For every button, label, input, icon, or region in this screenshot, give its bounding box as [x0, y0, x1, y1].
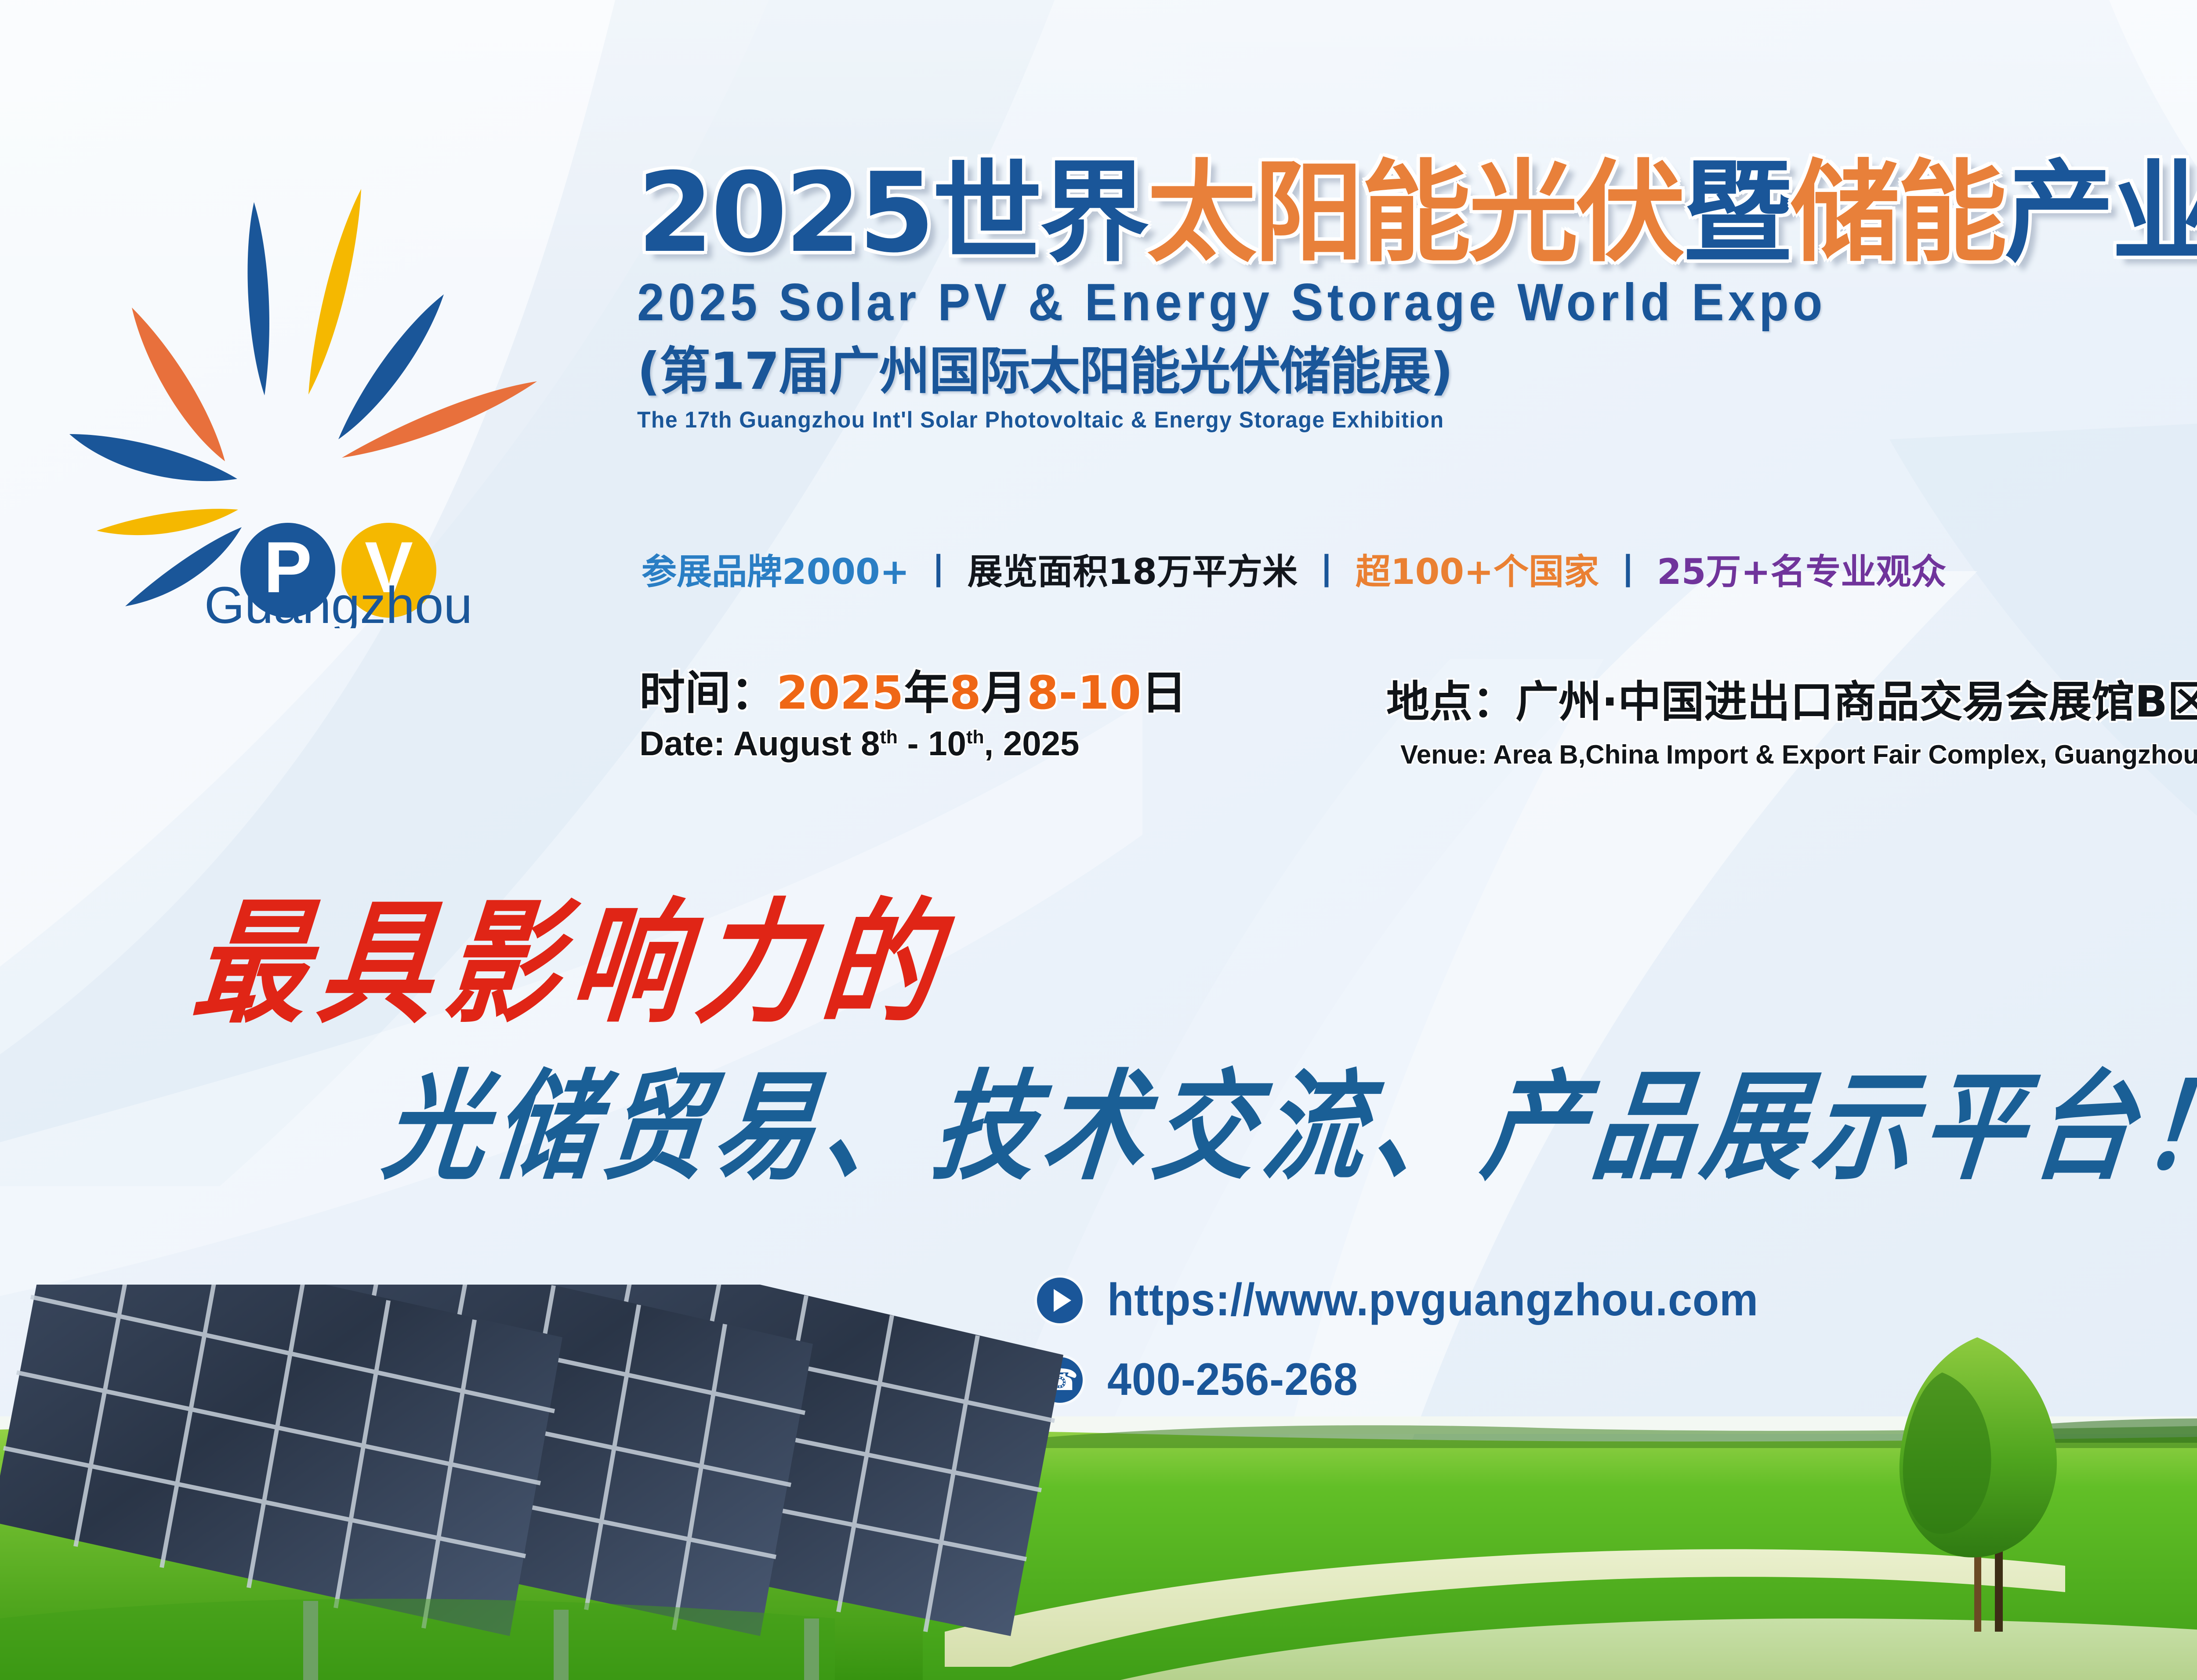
subtitle-cn: (第17届广州国际太阳能光伏储能展) — [637, 346, 2197, 397]
petal-yellow-lower-left — [97, 509, 238, 535]
date-block: 时间：2025年8月8-10日 Date: August 8th - 10th,… — [639, 668, 1187, 764]
subtitle-en: The 17th Guangzhou Int'l Solar Photovolt… — [637, 407, 2197, 433]
title-part-1: 太阳能光伏 — [1147, 149, 1683, 277]
title-part-0: 2025世界 — [637, 149, 1147, 277]
date-en-suffix: , 2025 — [984, 724, 1080, 763]
petal-orange-upper-left — [132, 308, 225, 461]
stat-separator-1: 丨 — [921, 554, 956, 590]
petal-blue-top — [247, 202, 269, 395]
slogan-line-2: 光储贸易、技术交流、产品展示平台！ — [379, 1068, 2197, 1186]
date-en-mid: - 10 — [898, 724, 966, 763]
date-cn: 时间：2025年8月8-10日 — [639, 668, 1187, 718]
date-en-sup1: th — [880, 727, 898, 748]
logo-svg: P V Guangzhou — [48, 163, 567, 628]
logo-wordmark: Guangzhou — [204, 576, 472, 628]
title-part-4: 产业博览会 — [2005, 149, 2197, 277]
date-en-prefix: Date: August 8 — [639, 724, 880, 763]
date-cn-label: 时间： — [639, 666, 776, 720]
main-title-en: 2025 Solar PV & Energy Storage World Exp… — [637, 276, 2197, 329]
headline-block: 2025世界太阳能光伏暨储能产业博览会 2025 Solar PV & Ener… — [637, 158, 2197, 433]
venue-en: Venue: Area B,China Import & Export Fair… — [1400, 739, 2197, 770]
stat-separator-3: 丨 — [1610, 554, 1646, 590]
landscape-illustration — [0, 1285, 2197, 1680]
stat-area: 展览面积18万平方米 — [968, 554, 1298, 590]
pv-guangzhou-logo: P V Guangzhou — [48, 163, 567, 628]
expo-banner: P V Guangzhou 2025世界太阳能光伏暨储能产业博览会 2025 S… — [0, 0, 2197, 1680]
stat-separator-2: 丨 — [1309, 554, 1344, 590]
venue-cn: 地点：广州·中国进出口商品交易会展馆B区 — [1386, 679, 2197, 726]
title-part-2: 暨 — [1683, 149, 1790, 277]
main-title-cn: 2025世界太阳能光伏暨储能产业博览会 — [637, 158, 2197, 268]
date-cn-year-unit: 年 — [903, 666, 949, 720]
date-cn-day-unit: 日 — [1141, 666, 1187, 720]
date-cn-days: 8-10 — [1027, 666, 1141, 720]
date-cn-month: 8 — [949, 666, 981, 720]
stat-countries: 超100+个国家 — [1356, 554, 1599, 590]
date-cn-year: 2025 — [776, 666, 903, 720]
slogan-line-1: 最具影响力的 — [188, 896, 956, 1030]
title-part-3: 储能 — [1790, 149, 2005, 277]
petal-yellow-top — [308, 189, 361, 395]
venue-block: 地点：广州·中国进出口商品交易会展馆B区 Venue: Area B,China… — [1386, 679, 2197, 770]
landscape-svg — [0, 1285, 2197, 1680]
date-en-sup2: th — [966, 727, 984, 748]
stat-brands: 参展品牌2000+ — [642, 554, 910, 590]
stat-visitors: 25万+名专业观众 — [1657, 554, 1946, 590]
stats-strip: 参展品牌2000+ 丨 展览面积18万平方米 丨 超100+个国家 丨 25万+… — [642, 554, 1946, 590]
date-cn-month-unit: 月 — [981, 666, 1027, 720]
date-en: Date: August 8th - 10th, 2025 — [639, 724, 1187, 764]
